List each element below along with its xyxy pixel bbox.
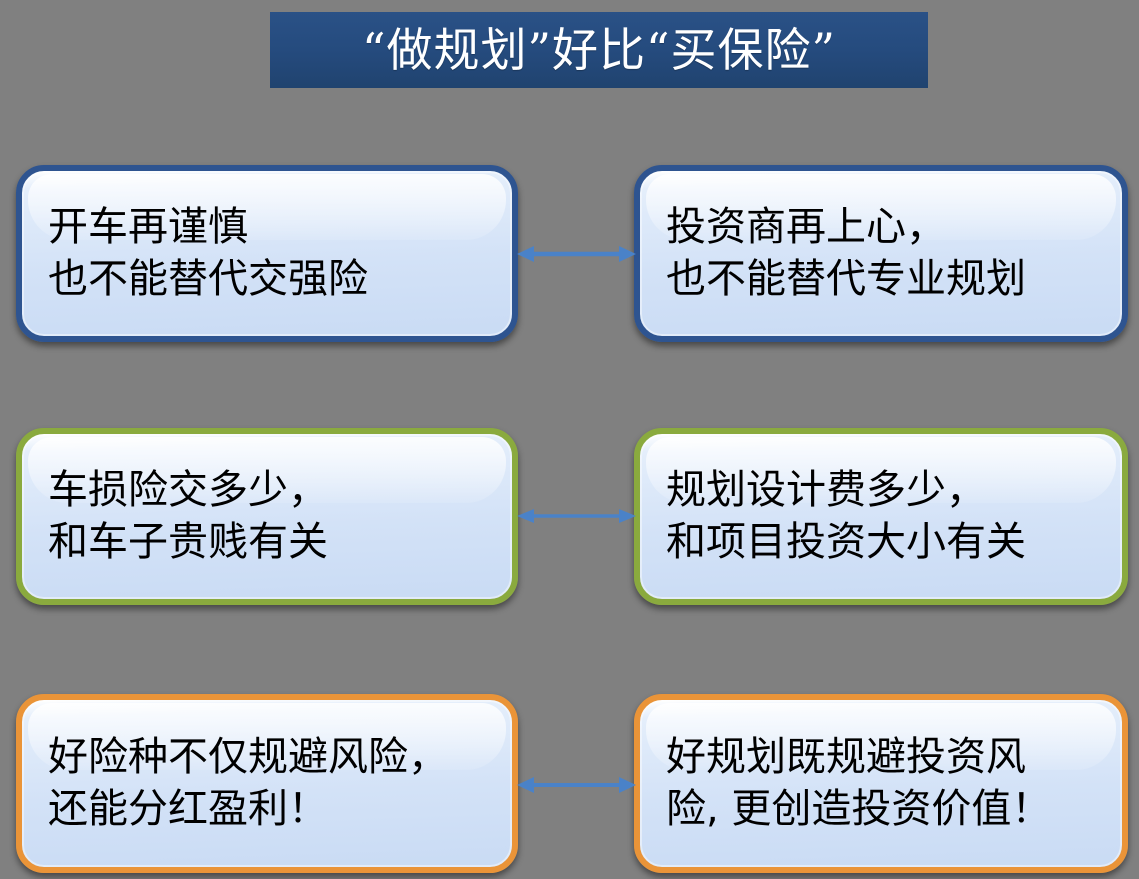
comparison-box-planning-3-text: 好规划既规避投资风 险, 更创造投资价值！ bbox=[640, 732, 1063, 834]
comparison-box-insurance-3: 好险种不仅规避风险， 还能分红盈利！ bbox=[16, 694, 518, 873]
double-arrow-icon-row-3 bbox=[517, 772, 636, 798]
comparison-box-planning-2-text: 规划设计费多少， 和项目投资大小有关 bbox=[640, 465, 1038, 567]
page-title: “做规划”好比“买保险” bbox=[362, 27, 836, 73]
comparison-box-insurance-1: 开车再谨慎 也不能替代交强险 bbox=[16, 165, 518, 342]
slide-canvas: “做规划”好比“买保险” 开车再谨慎 也不能替代交强险 投资商再上心， 也不能替… bbox=[0, 0, 1139, 879]
comparison-box-insurance-2-text: 车损险交多少， 和车子贵贱有关 bbox=[22, 465, 340, 567]
comparison-box-insurance-2: 车损险交多少， 和车子贵贱有关 bbox=[16, 428, 518, 605]
double-arrow-icon-row-1 bbox=[517, 241, 636, 267]
comparison-box-insurance-3-text: 好险种不仅规避风险， 还能分红盈利！ bbox=[22, 732, 460, 834]
comparison-box-insurance-1-text: 开车再谨慎 也不能替代交强险 bbox=[22, 202, 380, 304]
double-arrow-icon-row-2 bbox=[517, 503, 636, 529]
comparison-box-planning-3: 好规划既规避投资风 险, 更创造投资价值！ bbox=[634, 694, 1128, 873]
comparison-box-planning-1: 投资商再上心， 也不能替代专业规划 bbox=[634, 165, 1128, 342]
comparison-box-planning-2: 规划设计费多少， 和项目投资大小有关 bbox=[634, 428, 1128, 605]
comparison-box-planning-1-text: 投资商再上心， 也不能替代专业规划 bbox=[640, 202, 1038, 304]
title-banner: “做规划”好比“买保险” bbox=[270, 12, 928, 88]
